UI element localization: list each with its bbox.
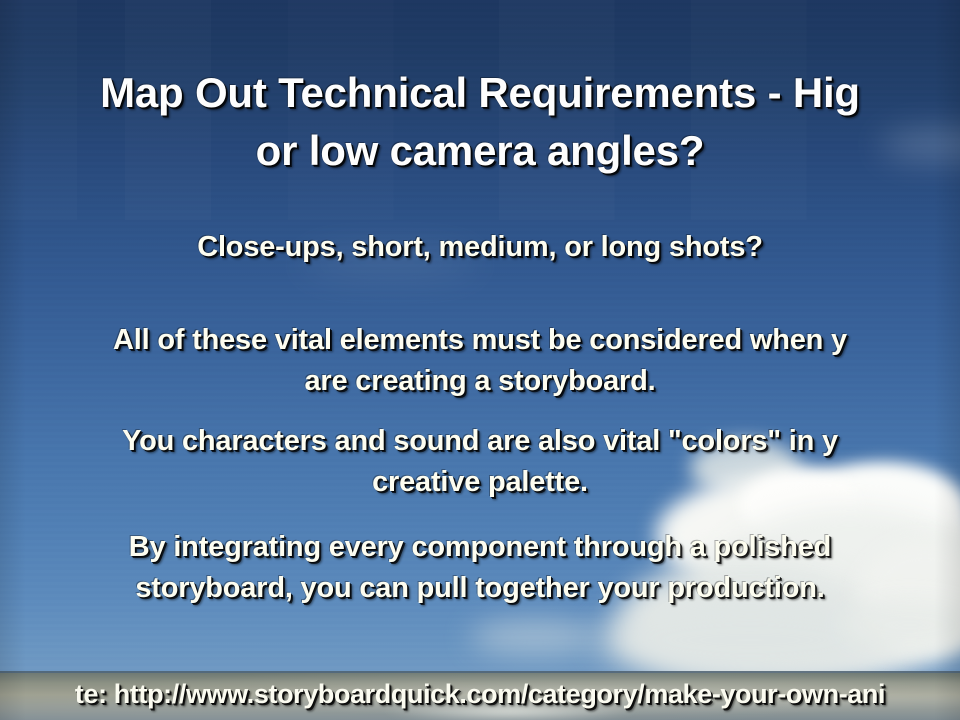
slide-body-line-6: By integrating every component through a… xyxy=(0,528,960,566)
slide-footer-url: te: http://www.storyboardquick.com/categ… xyxy=(0,679,960,710)
slide-body-line-3: are creating a storyboard. xyxy=(0,362,960,400)
slide-body-line-7: storyboard, you can pull together your p… xyxy=(0,569,960,607)
slide-title-line-1: Map Out Technical Requirements - Hig xyxy=(0,68,960,118)
slide-title-line-2: or low camera angles? xyxy=(0,126,960,176)
slide-body-line-4: You characters and sound are also vital … xyxy=(0,422,960,460)
slide-body-line-5: creative palette. xyxy=(0,463,960,501)
slide-body-line-1: Close-ups, short, medium, or long shots? xyxy=(0,228,960,266)
slide-body-line-2: All of these vital elements must be cons… xyxy=(0,321,960,359)
video-slide: Map Out Technical Requirements - Hig or … xyxy=(0,0,960,720)
text-overlay: Map Out Technical Requirements - Hig or … xyxy=(0,0,960,720)
